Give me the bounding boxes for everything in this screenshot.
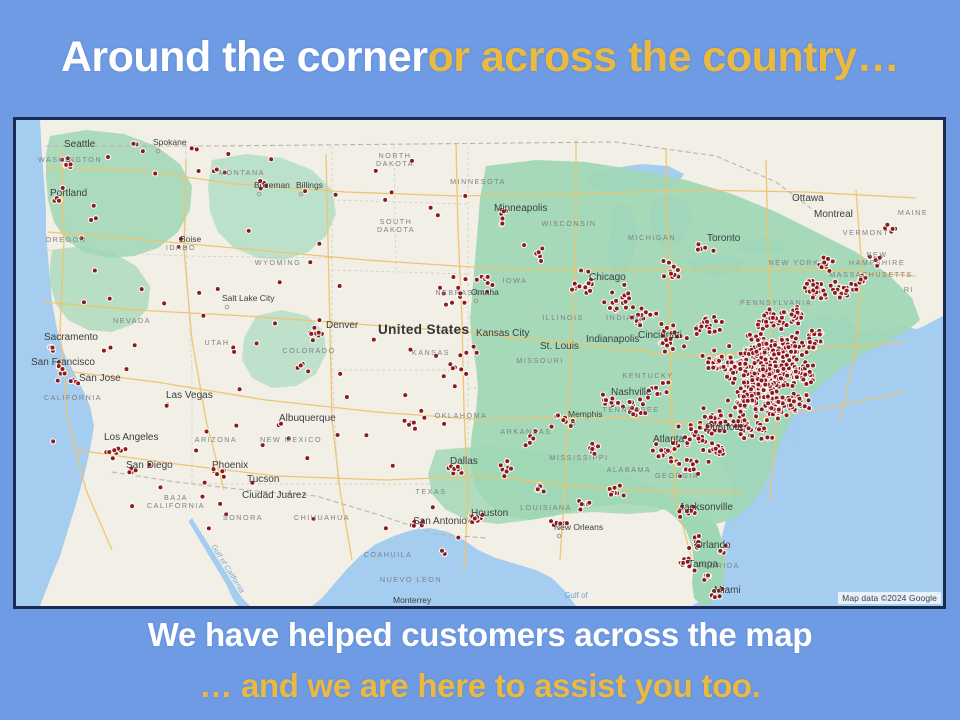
customer-marker xyxy=(802,371,808,377)
city-label: Ciudad Juárez xyxy=(242,490,306,501)
customer-marker xyxy=(457,352,463,358)
customer-marker xyxy=(709,440,715,446)
city-label: Nashville xyxy=(611,387,652,398)
customer-marker xyxy=(463,350,469,356)
state-label: WASHINGTON xyxy=(38,155,102,164)
customer-marker xyxy=(661,273,667,279)
customer-marker xyxy=(140,148,146,154)
customer-marker xyxy=(770,315,776,321)
customer-marker xyxy=(522,442,528,448)
city-label: Memphis xyxy=(568,409,602,419)
city-label: Miami xyxy=(714,585,741,596)
customer-marker xyxy=(152,170,158,176)
customer-marker xyxy=(412,426,418,432)
customer-marker xyxy=(837,294,843,300)
customer-marker xyxy=(647,312,653,318)
customer-marker xyxy=(788,311,794,317)
state-label: NEW YORK xyxy=(768,258,819,267)
customer-marker xyxy=(337,371,343,377)
city-label: Montreal xyxy=(814,209,853,220)
customer-marker xyxy=(783,362,789,368)
customer-marker xyxy=(706,459,712,465)
customer-marker xyxy=(783,322,789,328)
customer-marker xyxy=(307,259,313,265)
customer-marker xyxy=(630,304,636,310)
customer-marker xyxy=(778,375,784,381)
customer-marker xyxy=(699,353,705,359)
customer-marker xyxy=(373,168,379,174)
customer-marker xyxy=(666,260,672,266)
customer-marker xyxy=(55,377,61,383)
customer-marker xyxy=(832,290,838,296)
customer-marker xyxy=(805,397,811,403)
customer-marker xyxy=(654,391,660,397)
customer-marker xyxy=(677,514,683,520)
customer-marker xyxy=(726,343,732,349)
customer-marker xyxy=(756,426,762,432)
state-label: MAINE xyxy=(898,208,928,217)
customer-marker xyxy=(794,330,800,336)
customer-marker xyxy=(608,492,614,498)
water-label: Gulf of xyxy=(564,591,588,600)
customer-marker xyxy=(769,390,775,396)
city-label: Indianapolis xyxy=(586,334,639,345)
customer-marker xyxy=(792,343,798,349)
customer-marker xyxy=(217,501,223,507)
customer-marker xyxy=(390,463,396,469)
customer-marker xyxy=(569,287,575,293)
city-label: Las Vegas xyxy=(166,390,213,401)
state-label: SOUTHDAKOTA xyxy=(377,217,415,234)
state-label: KENTUCKY xyxy=(622,371,673,380)
customer-marker xyxy=(732,364,738,370)
customer-marker xyxy=(617,482,623,488)
customer-marker xyxy=(622,299,628,305)
customer-marker xyxy=(535,486,541,492)
state-label: MISSISSIPPI xyxy=(549,453,608,462)
customer-marker xyxy=(538,258,544,264)
customer-marker xyxy=(123,366,129,372)
city-label: Los Angeles xyxy=(104,432,159,443)
customer-marker xyxy=(337,283,343,289)
customer-marker xyxy=(753,349,759,355)
customer-marker xyxy=(697,425,703,431)
customer-marker xyxy=(676,461,682,467)
customer-marker xyxy=(751,370,757,376)
customer-marker xyxy=(727,354,733,360)
customer-marker xyxy=(688,426,694,432)
customer-marker xyxy=(794,356,800,362)
customer-marker xyxy=(809,328,815,334)
customer-marker xyxy=(776,407,782,413)
customer-marker xyxy=(775,399,781,405)
customer-marker xyxy=(686,545,692,551)
customer-marker xyxy=(828,283,834,289)
customer-marker xyxy=(441,421,447,427)
customer-marker xyxy=(418,408,424,414)
city-label: San Francisco xyxy=(31,357,95,368)
customer-marker xyxy=(613,298,619,304)
customer-marker xyxy=(791,398,797,404)
customer-marker xyxy=(660,380,666,386)
customer-marker xyxy=(91,203,97,209)
customer-marker xyxy=(555,412,561,418)
customer-marker xyxy=(600,392,606,398)
city-label: New Orleans xyxy=(554,522,603,532)
city-label: St. Louis xyxy=(540,341,579,352)
state-label: ALABAMA xyxy=(607,465,651,474)
city-label: Billings xyxy=(296,180,323,190)
customer-marker xyxy=(702,414,708,420)
state-label: COAHUILA xyxy=(364,550,413,559)
customer-marker xyxy=(783,412,789,418)
customer-marker xyxy=(737,408,743,414)
city-label: Monterrey xyxy=(393,595,432,605)
customer-marker xyxy=(705,572,711,578)
customer-marker xyxy=(670,322,676,328)
customer-marker xyxy=(277,279,283,285)
customer-marker xyxy=(732,404,738,410)
customer-marker xyxy=(705,359,711,365)
customer-marker xyxy=(231,349,237,355)
caption-line-2: … and we are here to assist you too. xyxy=(0,667,960,705)
customer-marker xyxy=(298,362,304,368)
state-label: IOWA xyxy=(503,276,528,285)
customer-marker xyxy=(650,447,656,453)
city-label: Seattle xyxy=(64,139,96,150)
city-label: Tucson xyxy=(247,474,279,485)
customer-marker xyxy=(107,345,113,351)
state-label: PENNSYLVANIA xyxy=(740,298,812,307)
customer-marker xyxy=(430,504,436,510)
state-label: TEXAS xyxy=(415,487,446,496)
customer-marker xyxy=(441,373,447,379)
city-label: Minneapolis xyxy=(494,203,547,214)
customer-marker xyxy=(745,425,751,431)
customer-marker xyxy=(344,394,350,400)
customer-marker xyxy=(603,397,609,403)
customer-marker xyxy=(766,371,772,377)
customer-marker xyxy=(761,312,767,318)
customer-marker xyxy=(773,363,779,369)
customer-marker xyxy=(718,412,724,418)
customer-marker xyxy=(772,342,778,348)
customer-marker xyxy=(755,390,761,396)
customer-marker xyxy=(638,305,644,311)
state-label: CALIFORNIA xyxy=(44,393,102,402)
state-label: MINNESOTA xyxy=(450,177,506,186)
state-label: TENNESSEE xyxy=(602,405,659,414)
customer-marker xyxy=(807,339,813,345)
customer-marker xyxy=(796,401,802,407)
customer-marker xyxy=(81,299,87,305)
state-label: IDAHO xyxy=(166,243,196,252)
customer-marker xyxy=(421,415,427,421)
customer-marker xyxy=(503,468,509,474)
customer-marker xyxy=(664,342,670,348)
customer-marker xyxy=(498,462,504,468)
customer-marker xyxy=(712,328,718,334)
state-label: UTAH xyxy=(204,338,229,347)
city-label: Jacksonville xyxy=(679,502,733,513)
state-label: NORTHDAKOTA xyxy=(376,151,414,168)
city-label: Chicago xyxy=(589,272,626,283)
customer-marker xyxy=(49,345,55,351)
customer-marker xyxy=(316,241,322,247)
customer-marker xyxy=(776,351,782,357)
state-label: OKLAHOMA xyxy=(435,411,488,420)
customer-marker xyxy=(402,392,408,398)
customer-marker xyxy=(690,461,696,467)
customer-marker xyxy=(202,480,208,486)
customer-marker xyxy=(755,381,761,387)
customer-marker xyxy=(764,434,770,440)
customer-marker xyxy=(710,364,716,370)
state-label: WYOMING xyxy=(255,258,301,267)
state-label: NUEVO LEON xyxy=(380,575,442,584)
customer-marker xyxy=(696,533,702,539)
customer-marker xyxy=(50,438,56,444)
state-label: MONTANA xyxy=(219,168,265,177)
state-label: WISCONSIN xyxy=(541,219,596,228)
customer-marker xyxy=(810,362,816,368)
customer-marker xyxy=(753,413,759,419)
customer-marker xyxy=(755,322,761,328)
city-label: Sacramento xyxy=(44,332,98,343)
customer-marker xyxy=(817,331,823,337)
customer-marker xyxy=(684,457,690,463)
customer-marker xyxy=(655,453,661,459)
state-label: OREGON xyxy=(46,235,87,244)
customer-marker xyxy=(749,377,755,383)
customer-marker xyxy=(455,535,461,541)
city-label: Bozeman xyxy=(254,180,290,190)
customer-marker xyxy=(706,329,712,335)
customer-marker xyxy=(796,396,802,402)
customer-marker xyxy=(371,336,377,342)
customer-marker xyxy=(802,403,808,409)
city-label: Portland xyxy=(50,188,87,199)
customer-marker xyxy=(164,403,170,409)
customer-marker xyxy=(748,386,754,392)
city-label: San Jose xyxy=(79,373,121,384)
city-label: Dallas xyxy=(450,456,478,467)
customer-marker xyxy=(763,319,769,325)
customer-marker xyxy=(268,156,274,162)
country-label-united-states: United States xyxy=(378,322,469,337)
city-label: Kansas City xyxy=(476,328,529,339)
customer-marker xyxy=(458,366,464,372)
customer-marker xyxy=(702,245,708,251)
customer-marker xyxy=(93,215,99,221)
customer-marker xyxy=(775,415,781,421)
customer-marker xyxy=(884,222,890,228)
state-label: INDIANA xyxy=(606,313,646,322)
customer-marker xyxy=(206,525,212,531)
customer-marker xyxy=(766,306,772,312)
customer-marker xyxy=(780,382,786,388)
customer-marker xyxy=(749,433,755,439)
customer-marker xyxy=(316,330,322,336)
customer-marker xyxy=(334,432,340,438)
customer-marker xyxy=(101,347,107,353)
customer-marker xyxy=(68,378,74,384)
city-label: Tampa xyxy=(688,559,718,570)
customer-marker xyxy=(741,372,747,378)
state-label: SONORA xyxy=(223,513,263,522)
customer-marker xyxy=(111,447,117,453)
map-container[interactable]: WASHINGTONMONTANAOREGONIDAHONORTHDAKOTAS… xyxy=(13,117,946,609)
city-label: Houston xyxy=(471,508,508,519)
customer-marker xyxy=(768,405,774,411)
customer-marker xyxy=(653,385,659,391)
state-label: MISSOURI xyxy=(516,356,564,365)
customer-marker xyxy=(105,154,111,160)
customer-marker xyxy=(700,405,706,411)
customer-marker xyxy=(717,448,723,454)
customer-marker xyxy=(789,383,795,389)
customer-marker xyxy=(471,344,477,350)
customer-marker xyxy=(675,423,681,429)
customer-marker xyxy=(541,488,547,494)
customer-marker xyxy=(623,305,629,311)
customer-marker xyxy=(311,325,317,331)
customer-marker xyxy=(452,383,458,389)
customer-marker xyxy=(194,146,200,152)
customer-marker xyxy=(129,503,135,509)
customer-marker xyxy=(698,323,704,329)
customer-marker xyxy=(724,374,730,380)
city-label: San Antonio xyxy=(413,516,467,527)
state-label: MASSACHUSETTS xyxy=(829,270,912,279)
map-graphic: WASHINGTONMONTANAOREGONIDAHONORTHDAKOTAS… xyxy=(16,120,943,606)
customer-marker xyxy=(586,500,592,506)
slide-title: Around the corner or across the country… xyxy=(0,26,960,88)
customer-marker xyxy=(316,317,322,323)
customer-marker xyxy=(310,337,316,343)
customer-marker xyxy=(844,287,850,293)
customer-marker xyxy=(779,337,785,343)
customer-marker xyxy=(719,319,725,325)
map-canvas[interactable]: WASHINGTONMONTANAOREGONIDAHONORTHDAKOTAS… xyxy=(16,120,943,606)
customer-marker xyxy=(760,366,766,372)
city-label: Toronto xyxy=(707,233,741,244)
customer-marker xyxy=(660,258,666,264)
customer-marker xyxy=(363,432,369,438)
customer-marker xyxy=(720,364,726,370)
customer-marker xyxy=(196,290,202,296)
customer-marker xyxy=(741,379,747,385)
customer-marker xyxy=(443,302,449,308)
customer-marker xyxy=(382,197,388,203)
customer-marker xyxy=(332,192,338,198)
customer-marker xyxy=(752,406,758,412)
customer-marker xyxy=(693,325,699,331)
title-gold-segment: or across the country… xyxy=(427,33,899,82)
customer-marker xyxy=(539,245,545,251)
city-label: Phoenix xyxy=(212,460,248,471)
customer-marker xyxy=(799,352,805,358)
customer-marker xyxy=(764,417,770,423)
customer-marker xyxy=(189,145,195,151)
customer-marker xyxy=(504,458,510,464)
customer-marker xyxy=(625,290,631,296)
customer-marker xyxy=(195,168,201,174)
state-label: ARKANSAS xyxy=(500,427,551,436)
customer-marker xyxy=(665,448,671,454)
customer-marker xyxy=(637,322,643,328)
caption-line-1: We have helped customers across the map xyxy=(0,616,960,654)
customer-marker xyxy=(161,300,167,306)
customer-marker xyxy=(795,320,801,326)
customer-marker xyxy=(246,228,252,234)
customer-marker xyxy=(614,305,620,311)
customer-marker xyxy=(761,387,767,393)
customer-marker xyxy=(794,374,800,380)
customer-marker xyxy=(485,274,491,280)
customer-marker xyxy=(233,423,239,429)
customer-marker xyxy=(694,331,700,337)
customer-marker xyxy=(200,313,206,319)
customer-marker xyxy=(621,492,627,498)
city-label: Charlotte xyxy=(705,422,746,433)
customer-marker xyxy=(435,212,441,218)
customer-marker xyxy=(742,361,748,367)
state-label: ARIZONA xyxy=(195,435,237,444)
customer-marker xyxy=(719,354,725,360)
customer-marker xyxy=(560,417,566,423)
customer-marker xyxy=(889,226,895,232)
customer-marker xyxy=(810,282,816,288)
customer-marker xyxy=(450,365,456,371)
customer-marker xyxy=(449,300,455,306)
customer-marker xyxy=(730,370,736,376)
customer-marker xyxy=(450,274,456,280)
state-label: RI xyxy=(904,285,914,294)
customer-marker xyxy=(737,351,743,357)
customer-marker xyxy=(725,397,731,403)
city-label: Denver xyxy=(326,320,359,331)
customer-marker xyxy=(695,435,701,441)
customer-marker xyxy=(695,241,701,247)
customer-marker xyxy=(708,414,714,420)
customer-marker xyxy=(439,548,445,554)
state-label: LOUISIANA xyxy=(520,503,572,512)
customer-marker xyxy=(681,343,687,349)
customer-marker xyxy=(463,371,469,377)
customer-marker xyxy=(130,141,136,147)
customer-marker xyxy=(762,382,768,388)
customer-marker xyxy=(803,381,809,387)
customer-marker xyxy=(215,286,221,292)
customer-marker xyxy=(762,349,768,355)
city-label: Salt Lake City xyxy=(222,293,275,303)
customer-marker xyxy=(253,340,259,346)
customer-marker xyxy=(305,368,311,374)
customer-marker xyxy=(700,447,706,453)
customer-marker xyxy=(822,292,828,298)
customer-marker xyxy=(578,267,584,273)
city-label: Ottawa xyxy=(792,193,824,204)
customer-marker xyxy=(579,501,585,507)
customer-marker xyxy=(304,455,310,461)
customer-marker xyxy=(793,368,799,374)
customer-marker xyxy=(781,309,787,315)
customer-marker xyxy=(732,376,738,382)
customer-marker xyxy=(308,331,314,337)
customer-marker xyxy=(609,289,615,295)
customer-marker xyxy=(132,342,138,348)
